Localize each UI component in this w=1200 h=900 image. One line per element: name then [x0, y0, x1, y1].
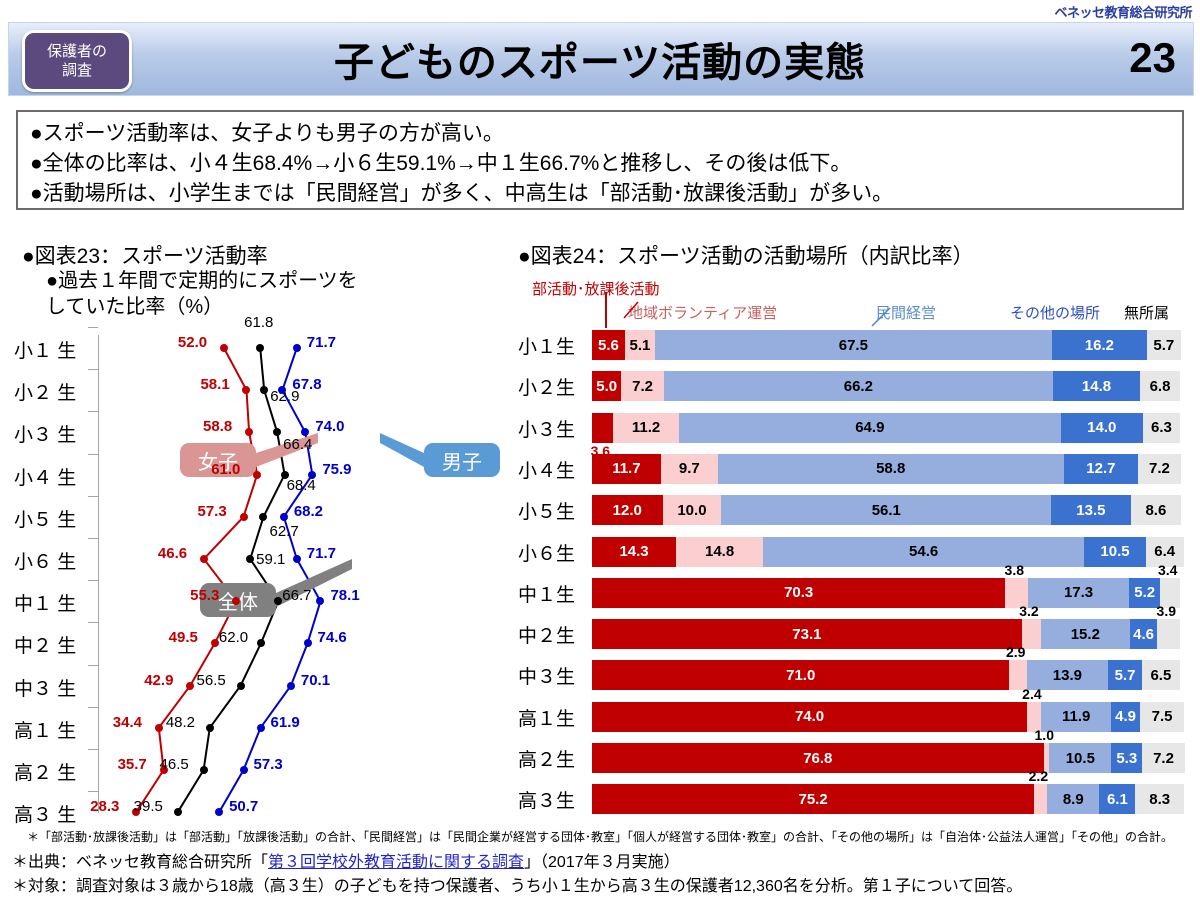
bar-outside-label-中１生-地域ボランティア運営: 3.8 [1005, 562, 1024, 578]
bar-segment-小４生-地域ボランティア運営: 9.7 [661, 454, 718, 484]
footnote-source: ＊出典：ベネッセ教育総合研究所「第３回学校外教育活動に関する調査」（2017年３… [12, 848, 1200, 872]
data-point-男子-小６生 [293, 555, 301, 563]
data-label-女子-小３生: 58.8 [203, 418, 232, 435]
bar-segment-高２生-民間経営: 10.5 [1049, 743, 1111, 773]
data-label-女子-高３生: 28.3 [90, 798, 119, 815]
figure24-stacked-bar-chart: 部活動･放課後活動 地域ボランティア運営 民間経営 その他の場所 無所属 小１生… [510, 240, 1200, 830]
bar-segment-高２生-無所属: 7.2 [1142, 743, 1184, 773]
data-label-男子-高２生: 57.3 [254, 756, 283, 773]
bar-row-中３生: 中３生71.02.913.95.76.5 [510, 660, 1200, 690]
bar-segment-高３生-無所属: 8.3 [1135, 784, 1184, 814]
axis-tick-5 [88, 496, 98, 497]
bar-segment-小６生-部活動･放課後活動: 14.3 [592, 537, 676, 567]
axis-tick-9 [88, 665, 98, 666]
bar-outside-label-中２生-地域ボランティア運営: 3.2 [1019, 603, 1038, 619]
grade-label-8: 中２ 生 [14, 631, 92, 658]
bar-segment-小１生-無所属: 5.7 [1147, 330, 1181, 360]
bar-segment-高２生-部活動･放課後活動: 76.8 [592, 743, 1044, 773]
bar-segment-小１生-民間経営: 67.5 [655, 330, 1052, 360]
summary-line-1: ●スポーツ活動率は、女子よりも男子の方が高い。 [30, 119, 1172, 149]
bar-segment-中３生-その他の場所: 5.7 [1108, 660, 1142, 690]
data-label-全体-中１生: 66.7 [282, 587, 311, 604]
grade-label-11: 高２ 生 [14, 758, 92, 785]
data-label-男子-小４生: 75.9 [322, 461, 351, 478]
survey-badge-line1: 保護者の [47, 42, 107, 61]
legend-item-3: その他の場所 [1010, 302, 1100, 323]
data-label-全体-中３生: 56.5 [197, 672, 226, 689]
data-point-男子-中３生 [287, 682, 295, 690]
bar-segment-小５生-地域ボランティア運営: 10.0 [663, 495, 722, 525]
bar-grade-label-11: 高２生 [518, 745, 592, 772]
data-point-全体-高３生 [174, 808, 182, 816]
axis-tick-8 [88, 622, 98, 623]
data-label-女子-中３生: 42.9 [144, 672, 173, 689]
grade-label-7: 中１ 生 [14, 589, 92, 616]
page-number: 23 [1129, 34, 1176, 82]
footnote-source-prefix: ＊出典：ベネッセ教育総合研究所「 [12, 854, 268, 871]
bar-outside-label-高２生-地域ボランティア運営: 1.0 [1035, 727, 1054, 743]
data-point-男子-小１生 [293, 344, 301, 352]
bar-segment-高３生-その他の場所: 6.1 [1099, 784, 1135, 814]
bar-segment-小２生-地域ボランティア運営: 7.2 [621, 371, 663, 401]
bar-segment-高１生-その他の場所: 4.9 [1111, 702, 1140, 732]
bar-segment-小２生-民間経営: 66.2 [664, 371, 1053, 401]
bar-grade-label-4: 小４生 [518, 456, 592, 483]
grade-label-6: 小６ 生 [14, 547, 92, 574]
bar-grade-label-5: 小５生 [518, 497, 592, 524]
brand-logo: ベネッセ教育総合研究所 [1054, 2, 1192, 21]
bar-grade-label-2: 小２生 [518, 373, 592, 400]
bar-segment-中３生-部活動･放課後活動: 71.0 [592, 660, 1009, 690]
bar-segment-小５生-無所属: 8.6 [1131, 495, 1182, 525]
axis-tick-10 [88, 707, 98, 708]
bar-segment-小１生-部活動･放課後活動: 5.6 [592, 330, 625, 360]
bar-row-小２生: 小２生5.07.266.214.86.8 [510, 371, 1200, 401]
bar-row-高１生: 高１生74.02.411.94.97.5 [510, 702, 1200, 732]
bar-segment-中２生-部活動･放課後活動: 73.1 [592, 619, 1022, 649]
bar-row-高２生: 高２生76.81.010.55.37.2 [510, 743, 1200, 773]
bar-segment-中２生-無所属 [1157, 619, 1180, 649]
bar-segment-小３生-その他の場所: 14.0 [1061, 413, 1143, 443]
footnote-definitions: ＊「部活動･放課後活動」は「部活動」「放課後活動」の合計、「民間経営」は「民間企… [0, 828, 1200, 845]
bar-outside-label-高３生-地域ボランティア運営: 2.2 [1029, 768, 1048, 784]
figure23-subheading-line2: していた比率（%） [46, 294, 358, 320]
bar-grade-label-12: 高３生 [518, 786, 592, 813]
bar-segment-小４生-民間経営: 58.8 [718, 454, 1064, 484]
bar-segment-小６生-地域ボランティア運営: 14.8 [676, 537, 763, 567]
bar-segment-高１生-無所属: 7.5 [1140, 702, 1184, 732]
line-series-女子 [136, 348, 257, 812]
bar-row-小１生: 小１生5.65.167.516.25.7 [510, 330, 1200, 360]
footnote-source-link[interactable]: 第３回学校外教育活動に関する調査 [268, 854, 524, 871]
bar-segment-小３生-無所属: 6.3 [1143, 413, 1180, 443]
bar-grade-label-7: 中１生 [518, 580, 592, 607]
survey-badge-line2: 調査 [62, 61, 92, 80]
axis-tick-2 [88, 369, 98, 370]
axis-tick-7 [88, 580, 98, 581]
footnote-source-suffix: 」（2017年３月実施） [524, 854, 680, 871]
line-series-男子 [219, 348, 320, 812]
data-point-女子-小６生 [200, 555, 208, 563]
figure23-subheading-line1: ●過去１年間で定期的にスポーツを [46, 268, 358, 294]
bar-outside-label-中３生-地域ボランティア運営: 2.9 [1006, 644, 1025, 660]
data-label-男子-中１生: 78.1 [330, 587, 359, 604]
bar-segment-高３生-民間経営: 8.9 [1047, 784, 1099, 814]
figure23-heading: ●図表23：スポーツ活動率 [22, 240, 268, 270]
bar-row-中１生: 中１生70.33.817.35.23.4 [510, 578, 1200, 608]
bar-grade-label-10: 高１生 [518, 704, 592, 731]
bar-segment-小６生-その他の場所: 10.5 [1084, 537, 1146, 567]
data-label-男子-小２生: 67.8 [292, 376, 321, 393]
data-label-男子-中２生: 74.6 [318, 629, 347, 646]
bar-segment-高３生-地域ボランティア運営 [1034, 784, 1047, 814]
bar-segment-小５生-民間経営: 56.1 [721, 495, 1051, 525]
bar-segment-中１生-その他の場所: 5.2 [1129, 578, 1160, 608]
axis-tick-11 [88, 749, 98, 750]
bar-segment-小２生-無所属: 6.8 [1140, 371, 1180, 401]
data-point-男子-高２生 [240, 766, 248, 774]
bar-grade-label-6: 小６生 [518, 539, 592, 566]
bar-segment-小５生-部活動･放課後活動: 12.0 [592, 495, 663, 525]
bar-segment-中３生-無所属: 6.5 [1142, 660, 1180, 690]
data-point-女子-高１生 [155, 724, 163, 732]
bar-segment-小１生-その他の場所: 16.2 [1052, 330, 1147, 360]
summary-box: ●スポーツ活動率は、女子よりも男子の方が高い。 ●全体の比率は、小４生68.4%… [16, 110, 1184, 210]
grade-label-3: 小３ 生 [14, 420, 92, 447]
data-label-全体-小１生: 61.8 [244, 314, 273, 331]
data-label-男子-小５生: 68.2 [294, 503, 323, 520]
bar-segment-小１生-地域ボランティア運営: 5.1 [625, 330, 655, 360]
data-point-全体-高２生 [200, 766, 208, 774]
data-point-全体-中３生 [237, 682, 245, 690]
data-label-男子-小１生: 71.7 [307, 334, 336, 351]
bar-row-小３生: 小３生3.611.264.914.06.3 [510, 413, 1200, 443]
data-point-全体-高１生 [206, 724, 214, 732]
bar-row-小５生: 小５生12.010.056.113.58.6 [510, 495, 1200, 525]
figure23-subheading: ●過去１年間で定期的にスポーツを していた比率（%） [46, 268, 358, 320]
axis-tick-4 [88, 454, 98, 455]
bar-segment-高１生-部活動･放課後活動: 74.0 [592, 702, 1027, 732]
bar-outside-label-中２生-無所属: 3.9 [1157, 603, 1176, 619]
axis-tick-3 [88, 411, 98, 412]
data-point-男子-高１生 [257, 724, 265, 732]
data-label-女子-高２生: 35.7 [118, 756, 147, 773]
bar-segment-小４生-その他の場所: 12.7 [1064, 454, 1139, 484]
bar-segment-小４生-無所属: 7.2 [1138, 454, 1180, 484]
data-label-男子-高３生: 50.7 [229, 798, 258, 815]
survey-badge: 保護者の 調査 [22, 30, 132, 92]
legend-item-2: 民間経営 [876, 302, 936, 323]
summary-line-2: ●全体の比率は、小４生68.4%→小６生59.1%→中１生66.7%と推移し、そ… [30, 149, 1172, 179]
data-label-女子-小２生: 58.1 [200, 376, 229, 393]
bar-outside-label-中１生-無所属: 3.4 [1158, 562, 1177, 578]
bar-segment-中１生-民間経営: 17.3 [1028, 578, 1130, 608]
data-label-全体-高２生: 46.5 [160, 756, 189, 773]
data-point-女子-中３生 [186, 682, 194, 690]
bar-segment-高３生-部活動･放課後活動: 75.2 [592, 784, 1034, 814]
bar-segment-小２生-部活動･放課後活動: 5.0 [592, 371, 621, 401]
grade-label-9: 中３ 生 [14, 674, 92, 701]
bar-outside-label-高１生-地域ボランティア運営: 2.4 [1022, 686, 1041, 702]
axis-tick-12 [88, 791, 98, 792]
bar-segment-高２生-その他の場所: 5.3 [1111, 743, 1142, 773]
data-label-女子-中１生: 55.3 [190, 587, 219, 604]
data-label-女子-小６生: 46.6 [158, 545, 187, 562]
data-point-男子-中２生 [304, 639, 312, 647]
bar-grade-label-3: 小３生 [518, 415, 592, 442]
grade-label-12: 高３ 生 [14, 800, 92, 827]
data-label-女子-小４生: 61.0 [211, 461, 240, 478]
bar-grade-label-8: 中２生 [518, 621, 592, 648]
bar-segment-中１生-部活動･放課後活動: 70.3 [592, 578, 1005, 608]
data-label-全体-中２生: 62.0 [219, 629, 248, 646]
bar-segment-小３生-民間経営: 64.9 [679, 413, 1061, 443]
data-label-男子-小３生: 74.0 [315, 418, 344, 435]
data-label-男子-中３生: 70.1 [301, 672, 330, 689]
grade-label-10: 高１ 生 [14, 716, 92, 743]
grade-label-4: 小４ 生 [14, 463, 92, 490]
data-label-男子-高１生: 61.9 [271, 714, 300, 731]
bar-segment-中２生-民間経営: 15.2 [1041, 619, 1130, 649]
bar-segment-小６生-民間経営: 54.6 [763, 537, 1084, 567]
data-point-男子-小５生 [280, 513, 288, 521]
grade-label-5: 小５ 生 [14, 505, 92, 532]
legend-item-4: 無所属 [1124, 302, 1169, 323]
data-label-女子-小５生: 57.3 [198, 503, 227, 520]
legend-item-0: 部活動･放課後活動 [532, 278, 660, 299]
bar-segment-小２生-その他の場所: 14.8 [1053, 371, 1140, 401]
data-label-全体-小３生: 66.4 [283, 436, 312, 453]
bar-segment-小３生-地域ボランティア運営: 11.2 [613, 413, 679, 443]
data-label-全体-高３生: 39.5 [134, 798, 163, 815]
data-point-女子-小５生 [240, 513, 248, 521]
bar-row-中２生: 中２生73.13.215.24.63.9 [510, 619, 1200, 649]
data-label-全体-小６生: 59.1 [256, 551, 285, 568]
page-title: 子どものスポーツ活動の実態 [160, 30, 1040, 88]
data-label-女子-高１生: 34.4 [113, 714, 142, 731]
data-label-全体-高１生: 48.2 [166, 714, 195, 731]
bar-segment-小５生-その他の場所: 13.5 [1051, 495, 1130, 525]
grade-label-2: 小２ 生 [14, 378, 92, 405]
data-point-女子-小１生 [220, 344, 228, 352]
axis-tick-1 [88, 327, 98, 328]
bar-segment-小３生-部活動･放課後活動 [592, 413, 613, 443]
data-point-女子-小４生 [253, 471, 261, 479]
data-label-女子-中２生: 49.5 [169, 629, 198, 646]
bar-segment-小４生-部活動･放課後活動: 11.7 [592, 454, 661, 484]
figure23-line-chart: 女子 全体 男子 小１ 生小２ 生小３ 生小４ 生小５ 生小６ 生中１ 生中２ … [0, 325, 510, 825]
legend-item-1: 地域ボランティア運営 [628, 302, 777, 323]
data-label-全体-小４生: 68.4 [287, 477, 316, 494]
legend-leader-lines [510, 240, 1200, 830]
bar-row-小６生: 小６生14.314.854.610.56.4 [510, 537, 1200, 567]
footnote-target: ＊対象：調査対象は３歳から18歳（高３生）の子どもを持つ保護者、うち小１生から高… [12, 872, 1200, 896]
bar-segment-中２生-その他の場所: 4.6 [1130, 619, 1157, 649]
data-label-全体-小５生: 62.7 [269, 523, 298, 540]
data-point-男子-小４生 [308, 471, 316, 479]
slide-page: ベネッセ教育総合研究所 保護者の 調査 子どものスポーツ活動の実態 23 ●スポ… [0, 0, 1200, 900]
axis-tick-6 [88, 538, 98, 539]
callout-male: 男子 [424, 443, 500, 477]
grade-label-1: 小１ 生 [14, 336, 92, 363]
bar-row-小４生: 小４生11.79.758.812.77.2 [510, 454, 1200, 484]
bar-row-高３生: 高３生75.22.28.96.18.3 [510, 784, 1200, 814]
data-label-女子-小１生: 52.0 [178, 334, 207, 351]
bar-grade-label-1: 小１生 [518, 332, 592, 359]
data-label-男子-小６生: 71.7 [307, 545, 336, 562]
summary-line-3: ●活動場所は、小学生までは「民間経営」が多く、中高生は「部活動･放課後活動」が多… [30, 179, 1172, 209]
bar-grade-label-9: 中３生 [518, 662, 592, 689]
